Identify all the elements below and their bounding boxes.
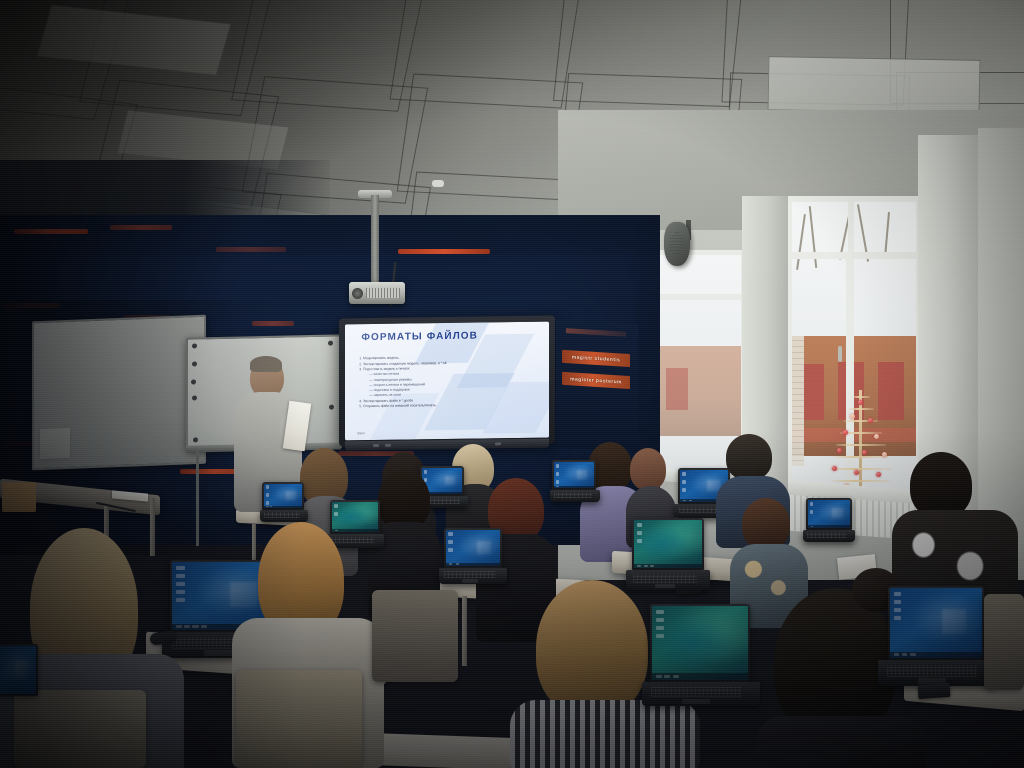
wall-banner: magistr studentis magister posterum [556, 319, 638, 452]
laptop-screen [0, 646, 36, 694]
presentation-screen[interactable]: ФОРМАТЫ ФАЙЛОВ 1. Моделировать модель. 2… [339, 315, 555, 446]
speaker-grille-icon [669, 232, 685, 256]
attendee-torso [756, 716, 926, 768]
laptop-screen [264, 484, 302, 508]
presenter-hair-icon [250, 356, 282, 372]
attendee-torso [510, 700, 700, 768]
laptop-screen [332, 502, 378, 532]
laptop-screen [634, 520, 702, 568]
chair[interactable] [14, 690, 146, 768]
wall-pillar [978, 128, 1024, 558]
laptop-screen [554, 462, 594, 488]
attendee-hair-icon [630, 448, 666, 490]
ceiling-light-panel [768, 56, 981, 114]
slide-title: ФОРМАТЫ ФАЙЛОВ [361, 331, 478, 344]
banner-line-bottom: magister posterum [562, 372, 630, 389]
projector-vent [366, 288, 400, 298]
attendee-hair-icon [726, 434, 772, 480]
whiteboard-stand [196, 451, 199, 546]
table-leg [150, 498, 155, 556]
slide-footer-logo: Slicer [357, 432, 365, 436]
banner-line-top: magistr studentis [562, 350, 630, 367]
slide-canvas: ФОРМАТЫ ФАЙЛОВ 1. Моделировать модель. 2… [345, 322, 549, 441]
attendee-hair-icon [536, 580, 648, 716]
laptop-screen [890, 588, 982, 658]
smartphone[interactable] [918, 683, 951, 699]
attendee-hair-icon [378, 470, 430, 530]
banner-header-strip [566, 328, 626, 337]
laptop-screen [446, 530, 500, 566]
attendee-hair-icon [910, 452, 972, 518]
cardboard-box [2, 482, 36, 512]
projector-pole [371, 195, 379, 283]
table-leg [252, 524, 256, 560]
whiteboard-panel-left [32, 315, 206, 471]
ceiling-sensor-icon [432, 180, 444, 187]
projector-lens-icon [352, 288, 363, 299]
laptop-screen [652, 606, 748, 680]
laptop-screen [808, 500, 850, 528]
chair[interactable] [236, 670, 362, 768]
classroom-photo: ФОРМАТЫ ФАЙЛОВ 1. Моделировать модель. 2… [0, 0, 1024, 768]
slide-bullet-list: 1. Моделировать модель. 2. Экспортироват… [359, 354, 541, 409]
chair[interactable] [984, 594, 1024, 690]
chair[interactable] [372, 590, 458, 682]
table-leg [462, 596, 467, 666]
attendee-hair-icon [742, 498, 790, 550]
